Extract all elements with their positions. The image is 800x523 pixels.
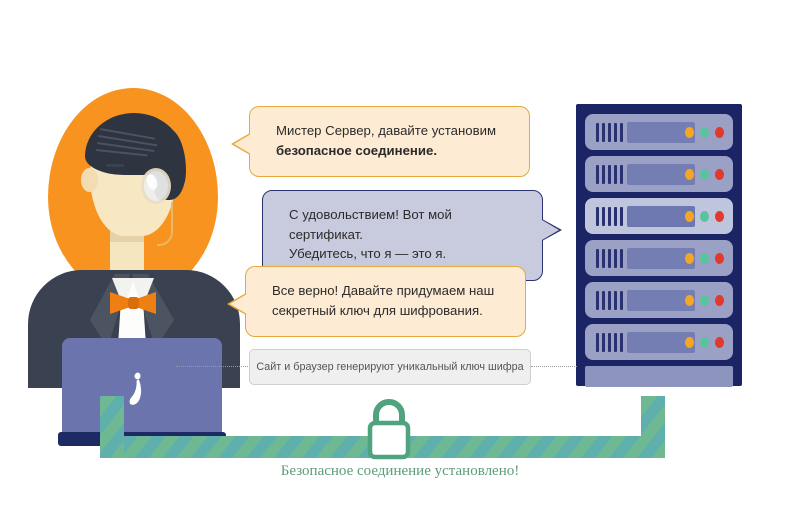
speech-bubble-browser-2: Все верно! Давайте придумаем наш секретн…: [245, 266, 526, 337]
led-green-icon: [700, 169, 709, 180]
led-red-icon: [715, 337, 724, 348]
bubble-3-line-1: Все верно! Давайте придумаем наш: [272, 281, 505, 301]
bubble-2-line-2: Убедитесь, что я — это я.: [289, 244, 522, 264]
led-green-icon: [700, 211, 709, 222]
bracket-left-segment: [100, 396, 124, 458]
speech-bubble-browser-1: Мистер Сервер, давайте установим безопас…: [249, 106, 530, 177]
server-rack: [576, 104, 742, 386]
server-unit-6: [585, 324, 733, 360]
led-red-icon: [715, 127, 724, 138]
bubble-1-line-1: Мистер Сервер, давайте установим: [276, 121, 509, 141]
led-green-icon: [700, 295, 709, 306]
led-group: [685, 211, 724, 222]
led-green-icon: [700, 127, 709, 138]
vent-grille-icon: [596, 333, 623, 352]
led-group: [685, 169, 724, 180]
led-group: [685, 337, 724, 348]
server-unit-4: [585, 240, 733, 276]
led-red-icon: [715, 253, 724, 264]
server-unit-5: [585, 282, 733, 318]
led-red-icon: [715, 169, 724, 180]
led-group: [685, 295, 724, 306]
led-amber-icon: [685, 169, 694, 180]
secure-connection-caption: Безопасное соединение установлено!: [0, 463, 800, 480]
keygen-label: Сайт и браузер генерируют уникальный клю…: [256, 361, 523, 373]
ear-left: [81, 168, 98, 192]
led-red-icon: [715, 295, 724, 306]
led-amber-icon: [685, 127, 694, 138]
led-group: [685, 253, 724, 264]
bowtie-knot: [128, 297, 139, 309]
vent-grille-icon: [596, 207, 623, 226]
browser-character: [28, 88, 240, 388]
led-amber-icon: [685, 295, 694, 306]
connector-dotted-left: [176, 366, 250, 367]
bracket-right-segment: [641, 396, 665, 458]
led-group: [685, 127, 724, 138]
led-green-icon: [700, 253, 709, 264]
led-amber-icon: [685, 211, 694, 222]
led-amber-icon: [685, 337, 694, 348]
bubble-tail-left-fill: [234, 134, 251, 154]
led-green-icon: [700, 337, 709, 348]
bubble-2-line-1: С удовольствием! Вот мой сертификат.: [289, 205, 522, 244]
server-unit-2: [585, 156, 733, 192]
bubble-tail-right-fill: [542, 220, 559, 240]
led-red-icon: [715, 211, 724, 222]
vent-grille-icon: [596, 123, 623, 142]
bubble-3-line-2: секретный ключ для шифрования.: [272, 301, 505, 321]
bubble-tail-left-fill: [230, 294, 247, 314]
infographic-canvas: Мистер Сервер, давайте установим безопас…: [0, 0, 800, 523]
vent-grille-icon: [596, 291, 623, 310]
monocle-chain: [157, 202, 173, 246]
led-amber-icon: [685, 253, 694, 264]
padlock-closed-icon: [361, 395, 417, 461]
eyebrow: [106, 164, 124, 167]
bubble-1-line-2: безопасное соединение.: [276, 141, 509, 161]
server-base-bar: [585, 366, 733, 387]
vent-grille-icon: [596, 249, 623, 268]
server-unit-1: [585, 114, 733, 150]
vent-grille-icon: [596, 165, 623, 184]
keygen-info-box: Сайт и браузер генерируют уникальный клю…: [249, 349, 531, 385]
connector-dotted-right: [531, 366, 577, 367]
server-unit-3-active: [585, 198, 733, 234]
